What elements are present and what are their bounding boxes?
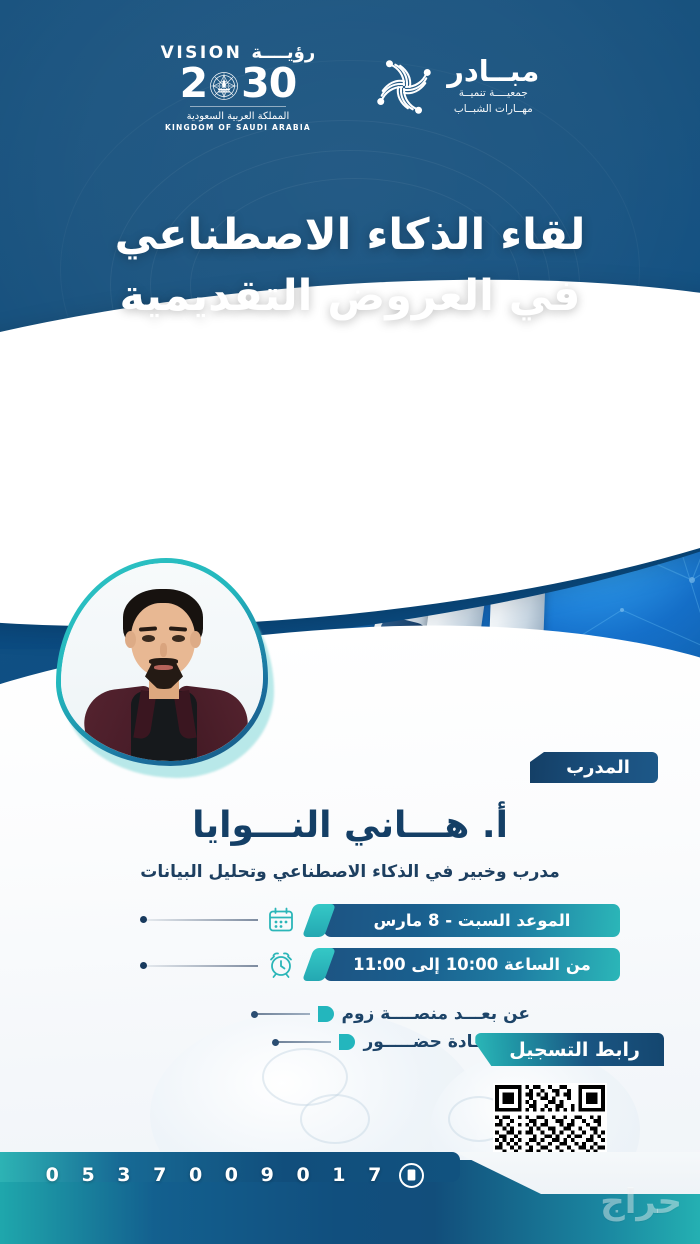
bullet-moon-icon-1 — [318, 1006, 334, 1022]
bullet-connector-1 — [254, 1013, 310, 1015]
trainer-photo — [56, 558, 281, 778]
vision-subtitle-en: KINGDOM OF SAUDI ARABIA — [165, 123, 311, 132]
date-badge: الموعد السبت - 8 مارس — [324, 904, 620, 937]
vision-subtitle-ar: المملكة العربية السعودية — [187, 111, 290, 122]
mobile-phone-icon — [399, 1163, 424, 1188]
alarm-clock-icon — [264, 947, 298, 981]
date-text: الموعد السبت - 8 مارس — [374, 911, 571, 930]
trainer-badge-label: المدرب — [566, 757, 630, 778]
calendar-icon — [264, 903, 298, 937]
mubadir-name: مبــادر — [447, 56, 539, 86]
poster-root: VISION رؤيــــة 2 — [0, 0, 700, 1244]
time-badge: من الساعة 10:00 إلى 11:00 — [324, 948, 620, 981]
title-line-2: في العروض التقديمية — [58, 266, 642, 327]
bullet-moon-icon-2 — [339, 1034, 355, 1050]
mubadir-tagline-line1: جمعيــــة تنميــة — [459, 86, 528, 102]
info-row-date: الموعد السبت - 8 مارس — [264, 903, 620, 937]
list-item: عن بعـــد منصــــة زوم — [254, 1000, 530, 1028]
portrait-image — [61, 563, 263, 761]
bullet-text-1: عن بعـــد منصــــة زوم — [342, 1004, 530, 1024]
poster-title: لقاء الذكاء الاصطناعي في العروض التقديمي… — [0, 205, 700, 327]
vision-year-part2: 30 — [241, 64, 296, 103]
vision-year-part1: 2 — [180, 64, 208, 103]
time-text: من الساعة 10:00 إلى 11:00 — [353, 955, 591, 974]
trainer-name: أ. هـــاني النـــوايا — [0, 805, 700, 846]
vision-divider — [190, 106, 286, 107]
registration-badge-label: رابط التسجيل — [509, 1039, 640, 1061]
vision-2030-logo: VISION رؤيــــة 2 — [161, 42, 316, 132]
phone-number: 0 5 3 7 0 0 9 0 1 7 — [46, 1164, 390, 1186]
mubadir-pinwheel-mark-icon — [373, 56, 435, 118]
registration-badge[interactable]: رابط التسجيل — [475, 1033, 664, 1066]
trainer-role: مدرب وخبير في الذكاء الاصطناعي وتحليل ال… — [0, 862, 700, 882]
saudi-palm-swords-emblem-icon — [209, 68, 239, 98]
trainer-badge: المدرب — [530, 752, 658, 783]
mubadir-tagline-line2: مهــارات الشبــاب — [454, 102, 533, 118]
info-row-time: من الساعة 10:00 إلى 11:00 — [264, 947, 620, 981]
mubadir-logo: مبــادر جمعيــــة تنميــة مهــارات الشبـ… — [373, 56, 539, 118]
header-logos: VISION رؤيــــة 2 — [0, 42, 700, 132]
bullet-connector-2 — [275, 1041, 331, 1043]
footer-phone-row: 0 5 3 7 0 0 9 0 1 7 — [0, 1160, 470, 1190]
portrait-frame — [56, 558, 268, 766]
title-line-1: لقاء الذكاء الاصطناعي — [115, 210, 586, 260]
palm-line-2 — [300, 1094, 370, 1144]
